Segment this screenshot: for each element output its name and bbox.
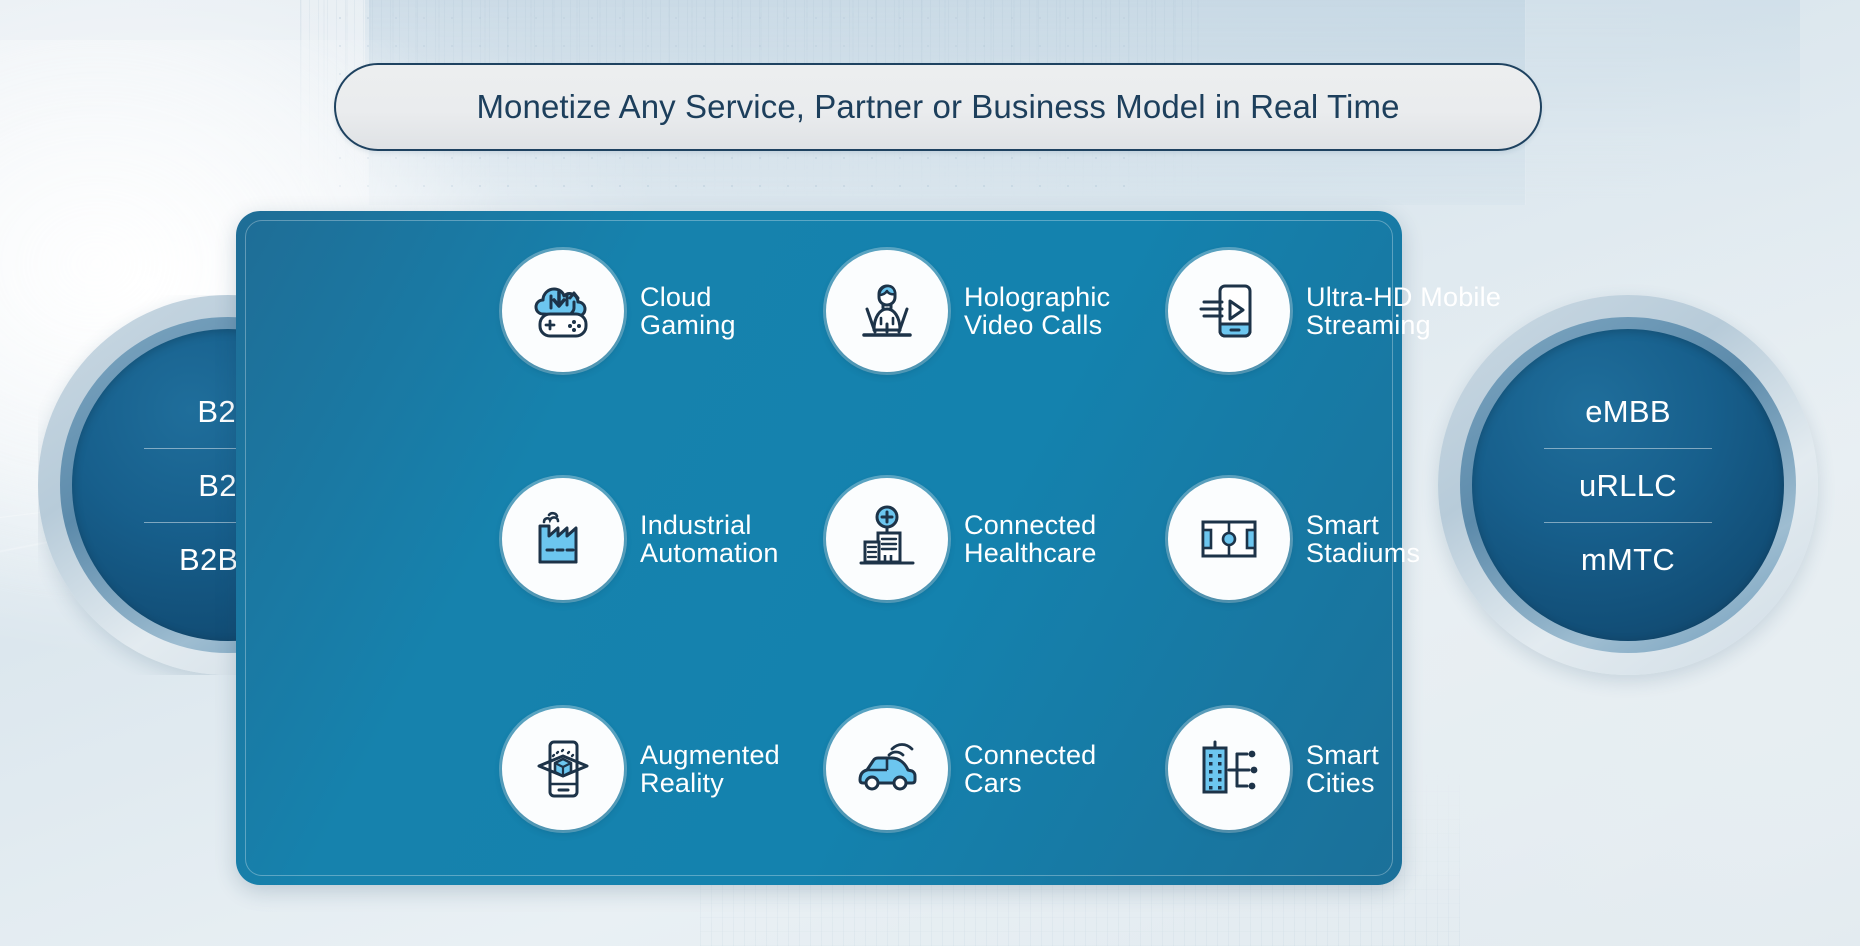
use-case-label: Connected Cars bbox=[964, 741, 1096, 797]
stadium-pitch-glyph bbox=[1192, 502, 1266, 576]
augmented-reality-cube-icon bbox=[502, 708, 624, 830]
use-case-label: Holographic Video Calls bbox=[964, 283, 1110, 339]
use-case-augmented-reality[interactable]: Augmented Reality bbox=[502, 708, 780, 830]
cloud-gaming-glyph bbox=[526, 274, 600, 348]
use-case-smart-cities[interactable]: Smart Cities bbox=[1168, 708, 1379, 830]
augmented-reality-cube-glyph bbox=[526, 732, 600, 806]
hospital-icon bbox=[826, 478, 948, 600]
mobile-video-streaming-glyph bbox=[1192, 274, 1266, 348]
holographic-video-call-glyph bbox=[850, 274, 924, 348]
ring-core: eMBB uRLLC mMTC bbox=[1472, 329, 1784, 641]
use-case-label: Smart Cities bbox=[1306, 741, 1379, 797]
use-case-industrial-automation[interactable]: Industrial Automation bbox=[502, 478, 779, 600]
cloud-gaming-icon bbox=[502, 250, 624, 372]
ring-item-embb[interactable]: eMBB bbox=[1544, 375, 1712, 448]
ring-item-urllc[interactable]: uRLLC bbox=[1544, 448, 1712, 522]
use-case-cloud-gaming[interactable]: Cloud Gaming bbox=[502, 250, 736, 372]
use-case-label: Connected Healthcare bbox=[964, 511, 1097, 567]
factory-glyph bbox=[526, 502, 600, 576]
smart-city-building-glyph bbox=[1192, 732, 1266, 806]
use-case-label: Smart Stadiums bbox=[1306, 511, 1420, 567]
stadium-pitch-icon bbox=[1168, 478, 1290, 600]
ring-item-mmtc[interactable]: mMTC bbox=[1544, 522, 1712, 596]
use-case-label: Industrial Automation bbox=[640, 511, 779, 567]
use-case-connected-healthcare[interactable]: Connected Healthcare bbox=[826, 478, 1097, 600]
use-case-connected-cars[interactable]: Connected Cars bbox=[826, 708, 1096, 830]
use-case-label: Cloud Gaming bbox=[640, 283, 736, 339]
use-case-label: Ultra-HD Mobile Streaming bbox=[1306, 283, 1501, 339]
mobile-video-streaming-icon bbox=[1168, 250, 1290, 372]
factory-icon bbox=[502, 478, 624, 600]
hospital-glyph bbox=[850, 502, 924, 576]
smart-city-building-icon bbox=[1168, 708, 1290, 830]
connected-car-icon bbox=[826, 708, 948, 830]
title-banner: Monetize Any Service, Partner or Busines… bbox=[334, 63, 1542, 151]
use-case-ultra-hd-mobile-streaming[interactable]: Ultra-HD Mobile Streaming bbox=[1168, 250, 1501, 372]
page-title: Monetize Any Service, Partner or Busines… bbox=[476, 88, 1399, 126]
connected-car-glyph bbox=[850, 732, 924, 806]
holographic-video-call-icon bbox=[826, 250, 948, 372]
use-case-holographic-video-calls[interactable]: Holographic Video Calls bbox=[826, 250, 1110, 372]
use-case-label: Augmented Reality bbox=[640, 741, 780, 797]
use-case-smart-stadiums[interactable]: Smart Stadiums bbox=[1168, 478, 1420, 600]
